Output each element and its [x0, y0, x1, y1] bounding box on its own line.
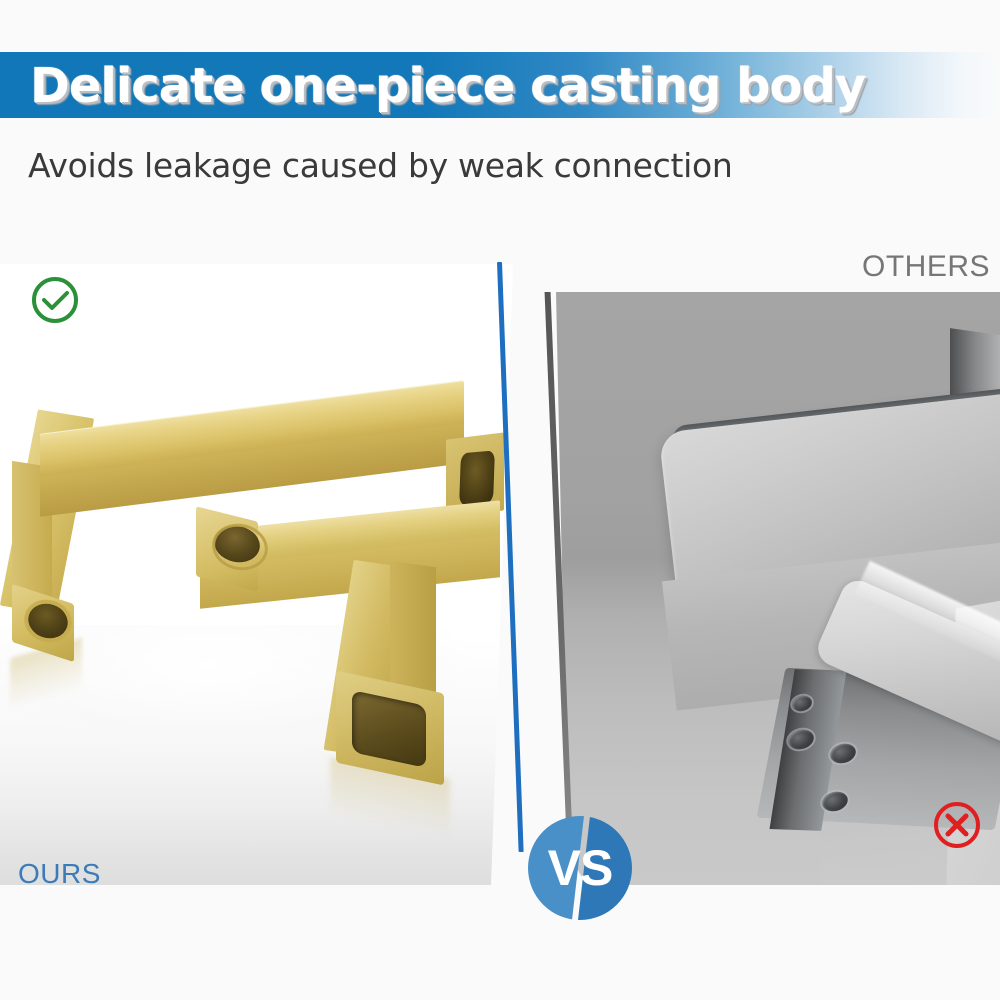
infographic-canvas: Delicate one-piece casting body Avoids l…: [0, 0, 1000, 1000]
x-circle-icon: [932, 800, 982, 850]
panel-ours-photo: [0, 264, 600, 885]
comparison-strip: VS: [0, 264, 1000, 885]
page-subtitle: Avoids leakage caused by weak connection: [28, 146, 732, 185]
floor-reflection: [0, 625, 600, 885]
vs-badge-label: VS: [528, 816, 632, 920]
page-title: Delicate one-piece casting body: [30, 53, 865, 119]
check-circle-icon: [30, 275, 80, 325]
vs-badge: VS: [528, 816, 632, 920]
chrome-photo-background: [520, 292, 1000, 885]
label-others: OTHERS: [862, 250, 990, 284]
label-ours: OURS: [18, 858, 101, 890]
gold-part-a-bore-right: [459, 450, 495, 505]
